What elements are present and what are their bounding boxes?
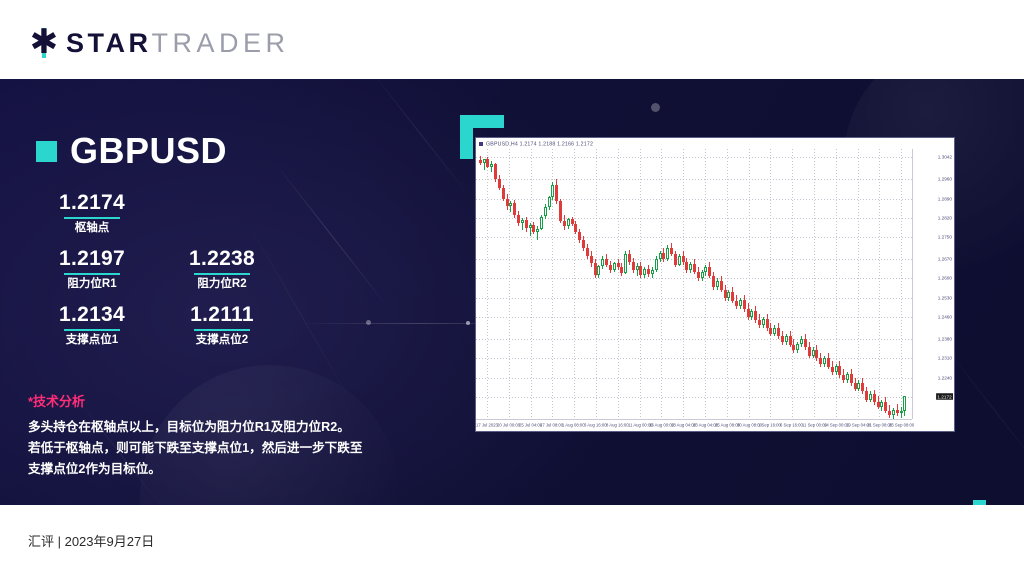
chart-candle-body [609,265,612,270]
chart-candle [678,149,681,419]
chart-candle [605,149,608,419]
chart-candle-body [865,391,868,399]
brand-name-secondary: TRADER [152,28,290,58]
brand-logo[interactable]: ✱ STARTRADER [28,28,290,58]
chart-candle-body [796,344,799,350]
level-resistance-1: 1.2197 阻力位R1 [36,247,148,292]
chart-candle [762,149,765,419]
chart-candle-body [490,164,493,167]
chart-candle [884,149,887,419]
chart-candle [873,149,876,419]
brand-wordmark: STARTRADER [66,28,290,59]
chart-candle-body [704,267,707,272]
chart-candle-body [536,229,539,232]
chart-candle [689,149,692,419]
chart-candle [525,149,528,419]
chart-candle-body [846,374,849,380]
chart-candle [888,149,891,419]
chart-candle [861,149,864,419]
chart-candle-body [628,254,631,262]
chart-candle-body [651,270,654,275]
levels-row-resistance: 1.2197 阻力位R1 1.2238 阻力位R2 [36,247,296,303]
chart-candle [804,149,807,419]
level-support-2-value: 1.2111 [166,303,278,327]
chart-candle [716,149,719,419]
chart-time-axis: 17 Jul 202320 Jul 00:0025 Jul 04:0027 Ju… [476,419,912,431]
chart-candle-body [624,254,627,273]
technical-analysis-line-2: 若低于枢轴点，则可能下跌至支撑点位1，然后进一步下跌至 [28,438,403,459]
chart-candle-body [605,259,608,265]
chart-candle [628,149,631,419]
level-underline [194,329,250,331]
chart-price-tick-label: 1.2310 [938,356,952,361]
level-underline [64,217,120,219]
chart-candle [754,149,757,419]
chart-candle [827,149,830,419]
chart-candle [559,149,562,419]
chart-candle-body [861,383,864,392]
chart-candle [486,149,489,419]
chart-candle-body [551,185,554,197]
chart-candle-body [620,267,623,273]
chart-price-tick-label: 1.2750 [938,235,952,240]
chart-symbol-text: GBPUSD,H4 1.2174 1.2188 1.2166 1.2172 [486,140,593,146]
chart-time-tick-label: 20 Jul 00:00 [497,423,520,428]
level-support-2-label: 支撑点位2 [166,334,278,348]
level-underline [64,273,120,275]
chart-candle [727,149,730,419]
chart-candle [639,149,642,419]
chart-candle [708,149,711,419]
chart-candle [735,149,738,419]
level-underline [64,329,120,331]
chart-candle [670,149,673,419]
chart-candle [850,149,853,419]
chart-candle [613,149,616,419]
chart-candle [842,149,845,419]
price-levels: 1.2174 枢轴点 1.2197 阻力位R1 1.2238 阻力位R2 1.2… [36,191,296,359]
chart-candle [731,149,734,419]
chart-candle [643,149,646,419]
chart-candle-body [869,394,872,400]
chart-candle-body [689,264,692,270]
chart-candle [720,149,723,419]
chart-candle [750,149,753,419]
chart-candle [781,149,784,419]
chart-candle-body [743,300,746,309]
chart-candle-body [517,215,520,223]
chart-candle-body [857,383,860,389]
chart-candle-body [532,225,535,232]
chart-candle-body [903,396,906,410]
chart-price-axis: 1.30421.29601.28901.28201.27501.26701.26… [912,149,954,419]
chart-candle [693,149,696,419]
chart-candle-body [632,262,635,270]
chart-candle-body [777,328,780,337]
chart-candle-body [888,411,891,415]
chart-symbol-header: GBPUSD,H4 1.2174 1.2188 1.2166 1.2172 [476,138,954,149]
level-resistance-2: 1.2238 阻力位R2 [166,247,278,292]
chart-candle-body [896,410,899,413]
level-support-1: 1.2134 支撑点位1 [36,303,148,348]
chart-price-tick-label: 1.2670 [938,257,952,262]
chart-candle [831,149,834,419]
technical-analysis-line-3: 支撑点位2作为目标位。 [28,459,403,480]
chart-candle [892,149,895,419]
chart-candle-body [792,345,795,351]
bracket-arm-vertical [460,115,473,159]
chart-candle-body [819,358,822,364]
chart-candle-body [831,367,834,373]
chart-candle-body [892,410,895,415]
chart-candle-body [479,160,482,163]
chart-candle [880,149,883,419]
chart-candle-body [498,179,501,187]
chart-candle [509,149,512,419]
chart-price-tick-label: 1.2240 [938,375,952,380]
chart-candle [662,149,665,419]
chart-candle [808,149,811,419]
technical-analysis-title: *技术分析 [28,391,403,410]
chart-candle [865,149,868,419]
technical-analysis-block: *技术分析 多头持仓在枢轴点以上，目标位为阻力位R1及阻力位R2。 若低于枢轴点… [28,391,403,479]
chart-candle-body [486,159,489,166]
chart-candle [624,149,627,419]
chart-candle-body [815,350,818,359]
level-pivot-value: 1.2174 [36,191,148,215]
chart-candle-body [670,248,673,254]
chart-candle [544,149,547,419]
chart-candle-body [613,263,616,269]
chart-candle [819,149,822,419]
chart-time-tick-label: 1 Aug 08:00 [562,423,585,428]
level-resistance-1-label: 阻力位R1 [36,278,148,292]
chart-candle-body [880,402,883,407]
chart-candle-body [727,292,730,298]
chart-candle [597,149,600,419]
level-support-2: 1.2111 支撑点位2 [166,303,278,348]
chart-candle [712,149,715,419]
chart-time-tick-label: 25 Jul 04:00 [519,423,542,428]
chart-candle [609,149,612,419]
chart-candle-body [578,232,581,240]
chart-candle-body [800,339,803,344]
chart-price-tick-label: 1.3042 [938,154,952,159]
chart-price-tick-label: 1.2890 [938,196,952,201]
chart-candle-body [582,240,585,248]
chart-time-tick-label: 8 Aug 16:00 [606,423,629,428]
chart-candle [685,149,688,419]
chart-time-tick-label: 17 Jul 2023 [476,423,498,428]
chart-candle-body [655,259,658,269]
chart-candle-body [735,301,738,307]
chart-candle-body [884,402,887,411]
chart-candle [773,149,776,419]
chart-candle-body [804,339,807,347]
chart-candle [590,149,593,419]
chart-plot-area[interactable] [476,149,912,419]
chart-price-tick-label: 1.2460 [938,314,952,319]
level-support-1-value: 1.2134 [36,303,148,327]
level-pivot: 1.2174 枢轴点 [36,191,148,236]
chart-candle [490,149,493,419]
candlestick-chart[interactable]: GBPUSD,H4 1.2174 1.2188 1.2166 1.2172 1.… [475,137,955,432]
page-title: GBPUSD [70,133,227,169]
chart-candle-body [716,281,719,287]
chart-candle-body [678,256,681,265]
chart-candle-body [708,267,711,275]
chart-candle-body [521,220,524,223]
chart-candle-body [597,266,600,275]
chart-time-tick-label: 6 Sep 16:00 [780,423,803,428]
chart-zone: GBPUSD,H4 1.2174 1.2188 1.2166 1.2172 1.… [455,115,1000,475]
chart-candle [536,149,539,419]
chart-candle [620,149,623,419]
chart-candle [655,149,658,419]
chart-price-tick-label: 1.2380 [938,336,952,341]
chart-candle-body [823,358,826,364]
chart-candle [666,149,669,419]
chart-candle-body [639,266,642,275]
chart-candle-body [567,219,570,226]
chart-candle [769,149,772,419]
chart-candle [785,149,788,419]
chart-candle [513,149,516,419]
chart-candle [647,149,650,419]
chart-candle-body [808,347,811,355]
chart-candle-body [739,300,742,306]
chart-candle-body [559,201,562,220]
page-header: ✱ STARTRADER [0,0,1024,79]
chart-symbol-square-icon [479,142,483,146]
page-footer: 汇评 | 2023年9月27日 [0,505,1024,576]
chart-candle-body [540,217,543,229]
chart-candle [739,149,742,419]
chart-candle [551,149,554,419]
chart-candle [697,149,700,419]
chart-candle [567,149,570,419]
chart-candle-body [685,262,688,270]
chart-candle [586,149,589,419]
chart-candle-body [785,336,788,342]
footer-caption: 汇评 | 2023年9月27日 [28,531,154,550]
levels-row-pivot: 1.2174 枢轴点 [36,191,296,247]
chart-candle [823,149,826,419]
chart-time-tick-label: 27 Jul 08:00 [540,423,563,428]
chart-candle-body [513,203,516,215]
chart-candle [792,149,795,419]
chart-candle [846,149,849,419]
level-support-1-label: 支撑点位1 [36,334,148,348]
technical-analysis-line-1: 多头持仓在枢轴点以上，目标位为阻力位R1及阻力位R2。 [28,417,403,438]
chart-time-tick-label: 3 Aug 16:00 [584,423,607,428]
chart-candle [800,149,803,419]
chart-candle [632,149,635,419]
chart-candle-body [731,292,734,301]
chart-candle [869,149,872,419]
asterisk-star-icon: ✱ [28,27,60,59]
level-underline [194,273,250,275]
levels-row-support: 1.2134 支撑点位1 1.2111 支撑点位2 [36,303,296,359]
chart-candle-body [873,394,876,403]
chart-candle-body [643,269,646,275]
chart-candle [479,149,482,419]
level-resistance-1-value: 1.2197 [36,247,148,271]
chart-candle-body [750,311,753,317]
chart-candle [532,149,535,419]
chart-candle-body [769,328,772,334]
chart-candle [578,149,581,419]
chart-candle-body [586,248,589,257]
chart-candle-wick [491,161,492,172]
chart-candle-body [773,328,776,334]
chart-candle-body [758,320,761,326]
chart-candle-body [509,203,512,207]
chart-time-tick-label: 1 Sep 16:00 [758,423,781,428]
logo-accent-square-bottom [42,53,46,58]
chart-candle [815,149,818,419]
chart-candle-body [850,374,853,383]
chart-current-price-tag: 1.2172 [936,394,953,401]
chart-candle-body [525,220,528,228]
chart-candle [903,149,906,419]
chart-candle [521,149,524,419]
chart-candle-body [712,276,715,287]
chart-candle-body [544,207,547,217]
chart-candle-body [697,272,700,279]
chart-candle-body [563,221,566,227]
level-pivot-label: 枢轴点 [36,222,148,236]
chart-candle-body [674,254,677,265]
chart-time-tick-label: 26 Sep 08:00 [889,423,914,428]
chart-price-tick-label: 1.2960 [938,177,952,182]
chart-candle-body [838,366,841,375]
brand-name-primary: STAR [66,28,152,58]
chart-candle-body [647,269,650,275]
chart-candle-body [754,311,757,320]
chart-price-tick-label: 1.2600 [938,276,952,281]
chart-candle-body [693,264,696,271]
chart-candle-body [842,375,845,381]
chart-candle-body [662,253,665,259]
chart-candle [777,149,780,419]
chart-candle [582,149,585,419]
chart-candle [674,149,677,419]
chart-price-tick-label: 1.2820 [938,215,952,220]
chart-candle [574,149,577,419]
chart-candle [704,149,707,419]
chart-candle [896,149,899,419]
chart-candle-body [720,281,723,290]
pair-marker-square-icon [36,141,57,162]
chart-candle [857,149,860,419]
chart-candle-body [574,224,577,232]
chart-candle-body [502,188,505,199]
chart-candle [743,149,746,419]
chart-candle-body [590,256,593,263]
technical-analysis-body: 多头持仓在枢轴点以上，目标位为阻力位R1及阻力位R2。 若低于枢轴点，则可能下跌… [28,417,403,479]
chart-price-tick-label: 1.2530 [938,295,952,300]
pair-title-row: GBPUSD [36,133,227,169]
chart-candle [758,149,761,419]
chart-candle-body [827,358,830,367]
chart-candle [555,149,558,419]
chart-candle [540,149,543,419]
chart-candle-body [555,185,558,202]
chart-candle-body [494,164,497,179]
chart-candle-body [781,336,784,342]
main-panel: GBPUSD 1.2174 枢轴点 1.2197 阻力位R1 1.2238 阻力… [0,79,1024,505]
chart-candle [517,149,520,419]
level-resistance-2-value: 1.2238 [166,247,278,271]
chart-candle [601,149,604,419]
chart-candle [494,149,497,419]
chart-candle-body [666,248,669,260]
chart-candle [563,149,566,419]
chart-candle [498,149,501,419]
chart-candle-body [601,259,604,266]
level-resistance-2-label: 阻力位R2 [166,278,278,292]
chart-candle-body [762,319,765,325]
chart-candle [796,149,799,419]
chart-candle [502,149,505,419]
chart-candle [838,149,841,419]
chart-candle [651,149,654,419]
